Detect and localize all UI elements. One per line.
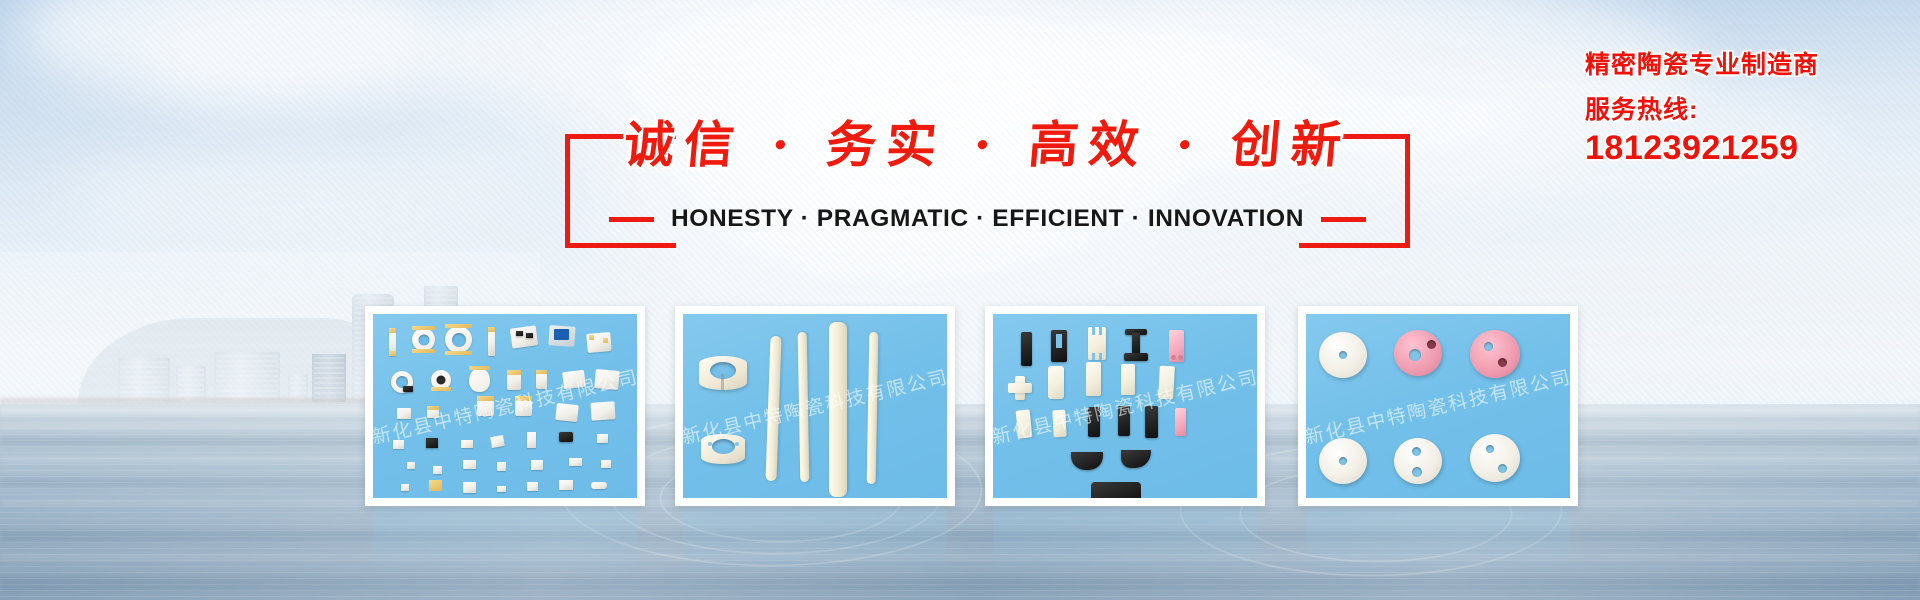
product-panel-smd-components[interactable]: 新化县中特陶瓷科技有限公司 [365, 306, 645, 506]
panel-image: 新化县中特陶瓷科技有限公司 [683, 314, 947, 498]
slogan-block: 诚信 · 务实 · 高效 · 创新 HONESTY · PRAGMATIC · … [565, 128, 1410, 246]
hotline-label: 服务热线: [1585, 97, 1905, 125]
slogan-chinese: 诚信 · 务实 · 高效 · 创新 [563, 120, 1412, 170]
slogan-english-row: HONESTY · PRAGMATIC · EFFICIENT · INNOVA… [565, 205, 1410, 233]
panel-image: 新化县中特陶瓷科技有限公司 [373, 314, 637, 498]
panel-image: 新化县中特陶瓷科技有限公司 [1306, 314, 1570, 498]
product-panel-ceramic-tubes[interactable]: 新化县中特陶瓷科技有限公司 [675, 306, 955, 506]
product-panel-ceramic-discs[interactable]: 新化县中特陶瓷科技有限公司 [1298, 306, 1578, 506]
dash-right-icon [1321, 217, 1366, 222]
dash-left-icon [609, 217, 654, 222]
contact-block: 精密陶瓷专业制造商 服务热线: 18123921259 [1585, 52, 1905, 167]
hotline-number[interactable]: 18123921259 [1585, 130, 1905, 167]
promotional-banner: 新化县中特陶瓷科技有限公司 新化县中特陶瓷科技有限公司 [0, 0, 1920, 600]
slogan-english: HONESTY · PRAGMATIC · EFFICIENT · INNOVA… [671, 205, 1304, 233]
product-panel-ceramic-blocks[interactable]: 新化县中特陶瓷科技有限公司 [985, 306, 1265, 506]
panel-image: 新化县中特陶瓷科技有限公司 [993, 314, 1257, 498]
company-tagline: 精密陶瓷专业制造商 [1585, 52, 1905, 80]
